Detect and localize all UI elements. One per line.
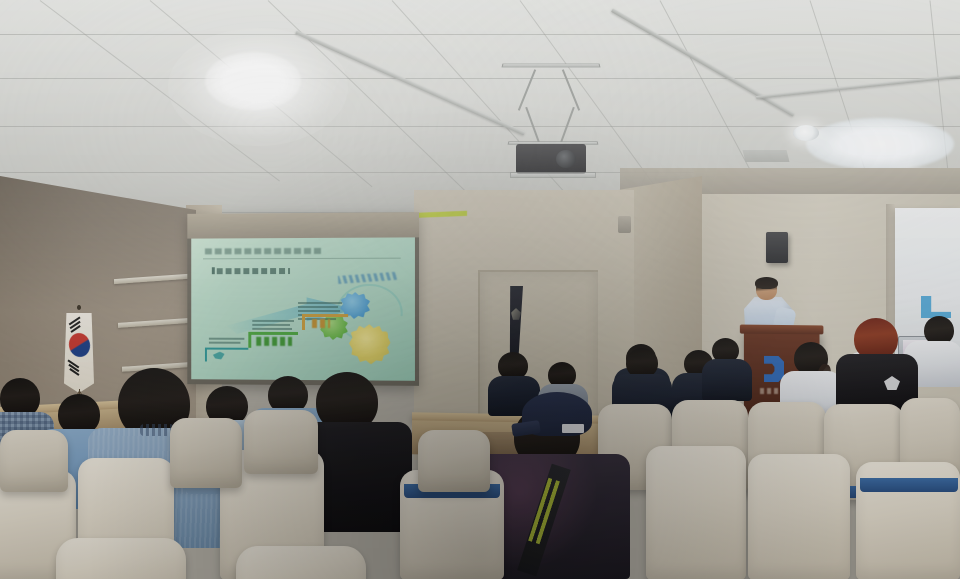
cap-tag — [562, 424, 584, 433]
slide-handwritten-label — [338, 272, 397, 284]
chair-b2[interactable] — [244, 410, 318, 474]
banner-logo-mark — [921, 296, 951, 318]
ceiling-projector — [494, 62, 614, 178]
projection-screen — [187, 212, 419, 386]
podium-top — [740, 325, 824, 335]
projector-lens — [556, 150, 576, 168]
slide-text-block-1 — [209, 338, 246, 346]
chair-fg-left[interactable] — [56, 538, 186, 579]
chair-b4[interactable] — [418, 430, 490, 492]
chair-b3[interactable] — [0, 430, 68, 492]
chair-b1[interactable] — [170, 418, 242, 488]
wall-speaker — [766, 232, 788, 263]
flag-finial — [77, 305, 81, 310]
slide-title-text — [205, 248, 324, 254]
dark-flag-cloth — [507, 286, 523, 360]
chair-f6[interactable] — [748, 454, 850, 579]
wall-speaker-small — [618, 216, 631, 233]
presentation-slide — [191, 237, 415, 380]
slide-title-rule — [203, 258, 401, 260]
presenter-hair — [755, 277, 778, 289]
chair-f7-seat — [860, 478, 958, 492]
downlight-1 — [793, 125, 819, 141]
ceiling-panel-light-right — [806, 118, 954, 170]
chair-fg-mid[interactable] — [236, 546, 366, 579]
chair-f5[interactable] — [646, 446, 746, 579]
collar — [140, 424, 174, 436]
slide-subtitle-bullet — [212, 267, 215, 274]
slide-subtitle-text — [217, 268, 290, 274]
screen-top-frame — [187, 212, 419, 238]
lecture-hall-photo — [0, 0, 960, 579]
